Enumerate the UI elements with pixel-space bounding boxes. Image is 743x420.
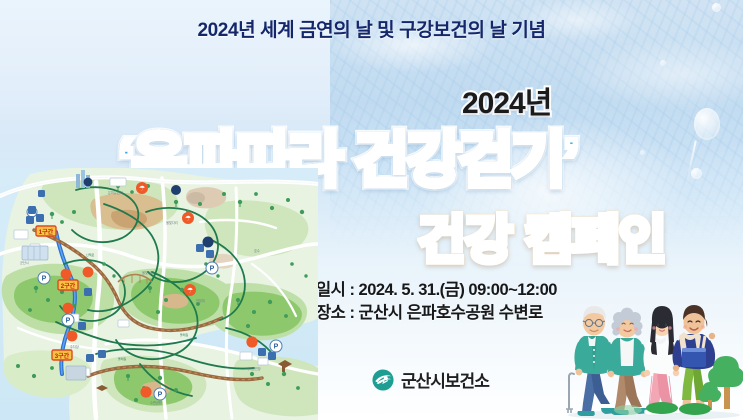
svg-text:P: P (42, 276, 47, 283)
poster-headline: 2024년 세계 금연의 날 및 구강보건의 날 기념 (0, 15, 743, 42)
svg-text:물빛다리: 물빛다리 (166, 220, 178, 225)
svg-text:산책로: 산책로 (86, 252, 95, 257)
svg-text:☂: ☂ (185, 215, 191, 223)
svg-text:☂: ☂ (187, 287, 193, 295)
figure-elderly-woman (607, 308, 649, 415)
gunsan-health-center-emblem-icon (372, 369, 394, 391)
bubble-decoration-icon (712, 3, 721, 12)
svg-text:전망대: 전망대 (196, 298, 205, 303)
svg-text:둘레길: 둘레길 (180, 332, 189, 337)
bubble-decoration-icon (640, 150, 645, 155)
svg-text:P: P (274, 344, 279, 351)
event-place-line: 장소 : 군산시 은파호수공원 수변로 (316, 302, 557, 325)
bubble-decoration-icon (691, 168, 702, 179)
walking-people-illustration (566, 296, 743, 420)
svg-text:둘레길: 둘레길 (118, 356, 127, 361)
bubble-decoration-icon (660, 60, 666, 66)
eunpa-lake-park-map: 1구간 2구간 3구간 ☂ ☂ ☂ P P (0, 168, 318, 420)
svg-text:물빛다리: 물빛다리 (142, 270, 154, 275)
organization-logo-label: 군산시보건소 (401, 367, 489, 392)
page-subtitle: 건강 캠페인 (418, 198, 666, 273)
svg-text:3구간: 3구간 (55, 352, 70, 360)
svg-text:P: P (66, 318, 71, 325)
svg-text:호수: 호수 (254, 248, 260, 253)
svg-text:☂: ☂ (139, 185, 145, 193)
svg-text:2구간: 2구간 (61, 282, 76, 290)
svg-text:수변공원: 수변공원 (150, 400, 162, 405)
organization-logo: 군산시보건소 (372, 367, 489, 392)
svg-text:은파유원지: 은파유원지 (108, 190, 123, 195)
svg-text:P: P (158, 392, 163, 399)
event-info-block: 일시 : 2024. 5. 31.(금) 09:00~12:00 장소 : 군산… (316, 279, 557, 325)
bubble-decoration-icon (694, 108, 720, 140)
svg-text:1구간: 1구간 (39, 228, 54, 236)
svg-text:주차장: 주차장 (70, 344, 79, 349)
svg-text:군산시: 군산시 (20, 260, 29, 265)
svg-text:야외공연장: 야외공연장 (246, 366, 261, 371)
event-date-line: 일시 : 2024. 5. 31.(금) 09:00~12:00 (316, 279, 557, 302)
poster-canvas: 2024년 세계 금연의 날 및 구강보건의 날 기념 2024년 ‘은파따라 … (0, 0, 743, 420)
svg-text:P: P (210, 266, 215, 273)
